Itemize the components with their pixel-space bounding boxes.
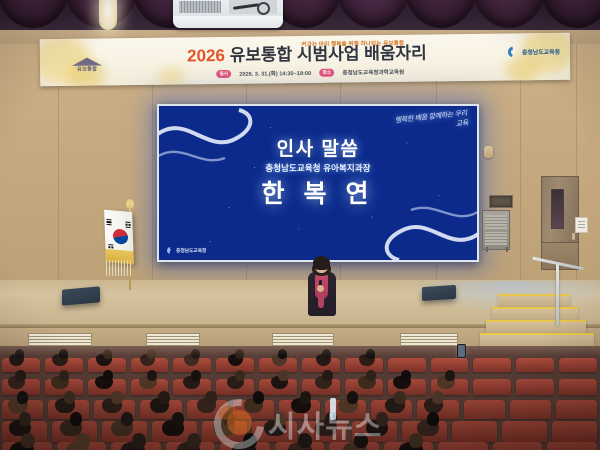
audience-member-head bbox=[147, 370, 157, 381]
amp-cabinet-legs bbox=[486, 247, 508, 252]
audience-seat bbox=[452, 421, 497, 442]
banner-right-logo-label: 충청남도교육청 bbox=[522, 47, 560, 56]
water-bottle-icon bbox=[330, 398, 336, 420]
ceiling-light-icon bbox=[99, 0, 117, 30]
curtain-swag bbox=[540, 0, 600, 28]
audience-member-head bbox=[132, 433, 146, 448]
audience-seat bbox=[493, 442, 543, 450]
banner-place-text: 충청남도교육청과학교육원 bbox=[342, 68, 404, 77]
audience-member-head bbox=[427, 412, 440, 426]
door-sign bbox=[575, 217, 588, 233]
stair-handrail bbox=[556, 262, 559, 326]
audience-seat bbox=[473, 358, 511, 372]
banner-place-pill: 장소 bbox=[319, 69, 334, 77]
screen-swoosh-icon bbox=[167, 247, 174, 254]
screen-credit-label: 충청남도교육청 bbox=[176, 247, 206, 254]
stage-steps[interactable] bbox=[498, 294, 600, 352]
stage-monitor-speaker bbox=[422, 285, 456, 301]
curtain-swag-row bbox=[0, 0, 600, 30]
swoosh-icon bbox=[508, 46, 519, 57]
screen-title: 인사 말씀 bbox=[159, 134, 477, 161]
audience-member-head bbox=[322, 370, 332, 381]
korean-flag-icon bbox=[104, 210, 134, 265]
audience-seating-area bbox=[0, 346, 600, 450]
speaker-hands bbox=[317, 285, 324, 292]
curtain-swag bbox=[472, 0, 546, 28]
audience-member-head bbox=[235, 370, 245, 381]
smartphone-icon bbox=[457, 344, 466, 358]
banner-year: 2026 bbox=[187, 46, 225, 65]
stage-monitor-speaker bbox=[62, 286, 100, 305]
curtain-swag bbox=[404, 0, 478, 28]
ceiling bbox=[0, 0, 600, 34]
aisle-lighting bbox=[0, 346, 600, 356]
audience-member-head bbox=[432, 391, 444, 404]
audience-seat bbox=[464, 400, 505, 419]
banner-date-text: 2026. 3. 31.(화) 14:30~18:00 bbox=[239, 69, 311, 78]
audience-member-head bbox=[158, 391, 170, 404]
audience-member-head bbox=[243, 433, 257, 448]
audience-member-head bbox=[21, 433, 35, 448]
audience-seat bbox=[552, 421, 597, 442]
audience-member-head bbox=[366, 370, 376, 381]
audience-member-head bbox=[172, 412, 185, 426]
projection-screen: 행복한 배움 함께하는 우리 교육 인사 말씀 충청남도교육청 유아복지과장 한… bbox=[157, 104, 479, 262]
audience-member-head bbox=[298, 433, 312, 448]
wall-vent-icon bbox=[489, 195, 513, 208]
audience-seat bbox=[473, 379, 511, 395]
audience-seat bbox=[547, 442, 597, 450]
audience-member-head bbox=[191, 370, 201, 381]
audience-member-head bbox=[394, 391, 406, 404]
banner-right-logo-icon: 충청남도교육청 bbox=[508, 46, 560, 58]
banner-title: 유보통합 시범사업 배움자리 bbox=[230, 44, 427, 65]
audience-member-head bbox=[376, 412, 389, 426]
audience-member-head bbox=[70, 412, 83, 426]
banner-date-pill: 일시 bbox=[216, 70, 231, 78]
audience-member-head bbox=[409, 433, 423, 448]
audience-seat bbox=[559, 379, 597, 395]
audience-member-head bbox=[76, 433, 90, 448]
audience-seat bbox=[516, 358, 554, 372]
projector-grille bbox=[179, 1, 221, 13]
audience-member-head bbox=[347, 391, 359, 404]
photo-canvas: 유보통합 커가는 아이 행복을 위해 하나되는 유보통합 2026 유보통합 시… bbox=[0, 0, 600, 450]
curtain-swag bbox=[0, 0, 70, 28]
audience-member-head bbox=[111, 391, 123, 404]
audience-member-head bbox=[187, 433, 201, 448]
audience-seat bbox=[438, 442, 488, 450]
audience-seat bbox=[516, 379, 554, 395]
audience-seat bbox=[502, 421, 547, 442]
event-banner: 유보통합 커가는 아이 행복을 위해 하나되는 유보통합 2026 유보통합 시… bbox=[40, 33, 571, 86]
audience-member-head bbox=[103, 370, 113, 381]
screen-credit-logo-icon: 충청남도교육청 bbox=[167, 247, 206, 254]
audience-member-head bbox=[59, 370, 69, 381]
stage-speaker-person bbox=[305, 258, 339, 316]
door-handle-icon[interactable] bbox=[572, 233, 575, 240]
door-window bbox=[551, 189, 564, 229]
projector-mechanism bbox=[229, 0, 277, 14]
audience-member-head bbox=[205, 391, 217, 404]
audience-member-head bbox=[401, 370, 411, 381]
audience-member-head bbox=[253, 391, 265, 404]
audience-member-head bbox=[278, 370, 288, 381]
banner-meta: 일시 2026. 3. 31.(화) 14:30~18:00 장소 충청남도교육… bbox=[40, 66, 570, 80]
wall-speaker-icon bbox=[484, 146, 493, 158]
audience-member-head bbox=[274, 412, 287, 426]
audience-member-head bbox=[15, 370, 25, 381]
wall-panel-seam bbox=[520, 44, 521, 294]
flag-fringe bbox=[106, 260, 132, 276]
audience-member-head bbox=[300, 391, 312, 404]
audience-member-head bbox=[64, 391, 76, 404]
audience-seat bbox=[556, 400, 597, 419]
audience-member-head bbox=[17, 391, 29, 404]
audience-seat bbox=[510, 400, 551, 419]
screen-speaker-name: 한 복 연 bbox=[159, 174, 477, 210]
curtain-swag bbox=[336, 0, 410, 28]
screen-subtitle: 충청남도교육청 유아복지과장 bbox=[159, 162, 477, 174]
side-door[interactable] bbox=[541, 176, 579, 270]
ceiling-projector-icon bbox=[173, 0, 283, 28]
audience-seat bbox=[559, 358, 597, 372]
audience-member-head bbox=[445, 370, 455, 381]
projector-housing bbox=[173, 16, 283, 28]
amp-cabinet bbox=[482, 210, 510, 250]
speaker-hair bbox=[313, 256, 330, 270]
audience-member-head bbox=[223, 412, 236, 426]
audience-member-head bbox=[354, 433, 368, 448]
audience-member-head bbox=[19, 412, 32, 426]
audience-member-head bbox=[121, 412, 134, 426]
